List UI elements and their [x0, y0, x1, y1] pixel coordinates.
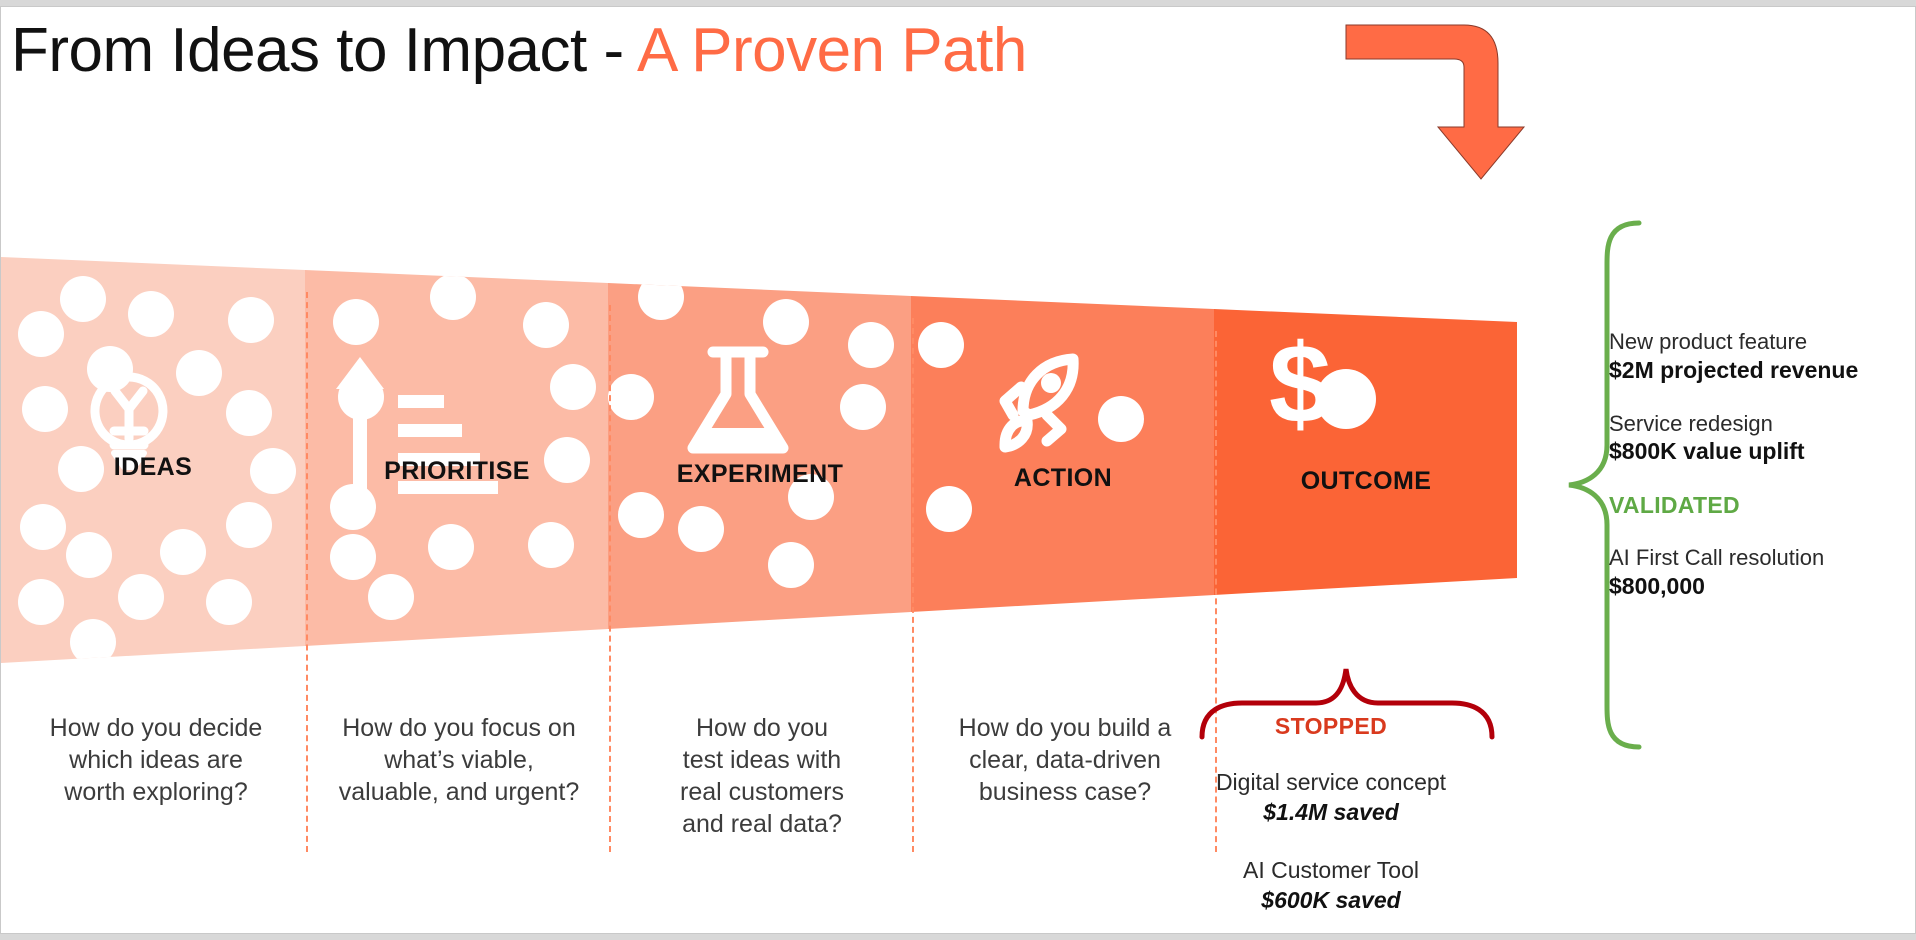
stopped-item-1-lead: Digital service concept: [1181, 768, 1481, 798]
stopped-outcomes-panel: STOPPED Digital service concept $1.4M sa…: [1181, 713, 1481, 916]
validated-item-1-value: $2M projected revenue: [1609, 356, 1909, 385]
stopped-item-2-lead: AI Customer Tool: [1181, 856, 1481, 886]
dollar-sign-icon: $: [1269, 321, 1331, 446]
validated-item-3-lead: AI First Call resolution: [1609, 545, 1909, 572]
stopped-item-2-value: $600K saved: [1181, 886, 1481, 916]
page-title-accent: A Proven Path: [637, 16, 1027, 85]
page-title-main: From Ideas to Impact -: [11, 16, 637, 85]
validated-item-2-lead: Service redesign: [1609, 411, 1909, 438]
stage-question-ideas: How do you decide which ideas are worth …: [11, 712, 301, 808]
stage-question-action: How do you build a clear, data-driven bu…: [920, 712, 1210, 808]
infographic-canvas: From Ideas to Impact - A Proven Path: [0, 6, 1916, 934]
stage-question-experiment: How do you test ideas with real customer…: [617, 712, 907, 840]
validated-outcomes-panel: New product feature $2M projected revenu…: [1609, 329, 1909, 601]
validated-item-1-lead: New product feature: [1609, 329, 1909, 356]
stage-separator-2: [609, 305, 611, 852]
stage-question-prioritise: How do you focus on what’s viable, valua…: [313, 712, 605, 808]
page-title: From Ideas to Impact - A Proven Path: [11, 15, 1027, 86]
validated-status-badge: VALIDATED: [1609, 492, 1909, 519]
stopped-status-badge: STOPPED: [1181, 713, 1481, 740]
funnel-stage-outcome: [1214, 309, 1517, 595]
stage-separator-1: [306, 292, 308, 852]
validated-item-3-value: $800,000: [1609, 572, 1909, 601]
stage-separator-3: [912, 318, 914, 852]
validated-item-2-value: $800K value uplift: [1609, 437, 1909, 466]
curved-arrow-icon: [1346, 21, 1546, 181]
stopped-item-1-value: $1.4M saved: [1181, 798, 1481, 828]
